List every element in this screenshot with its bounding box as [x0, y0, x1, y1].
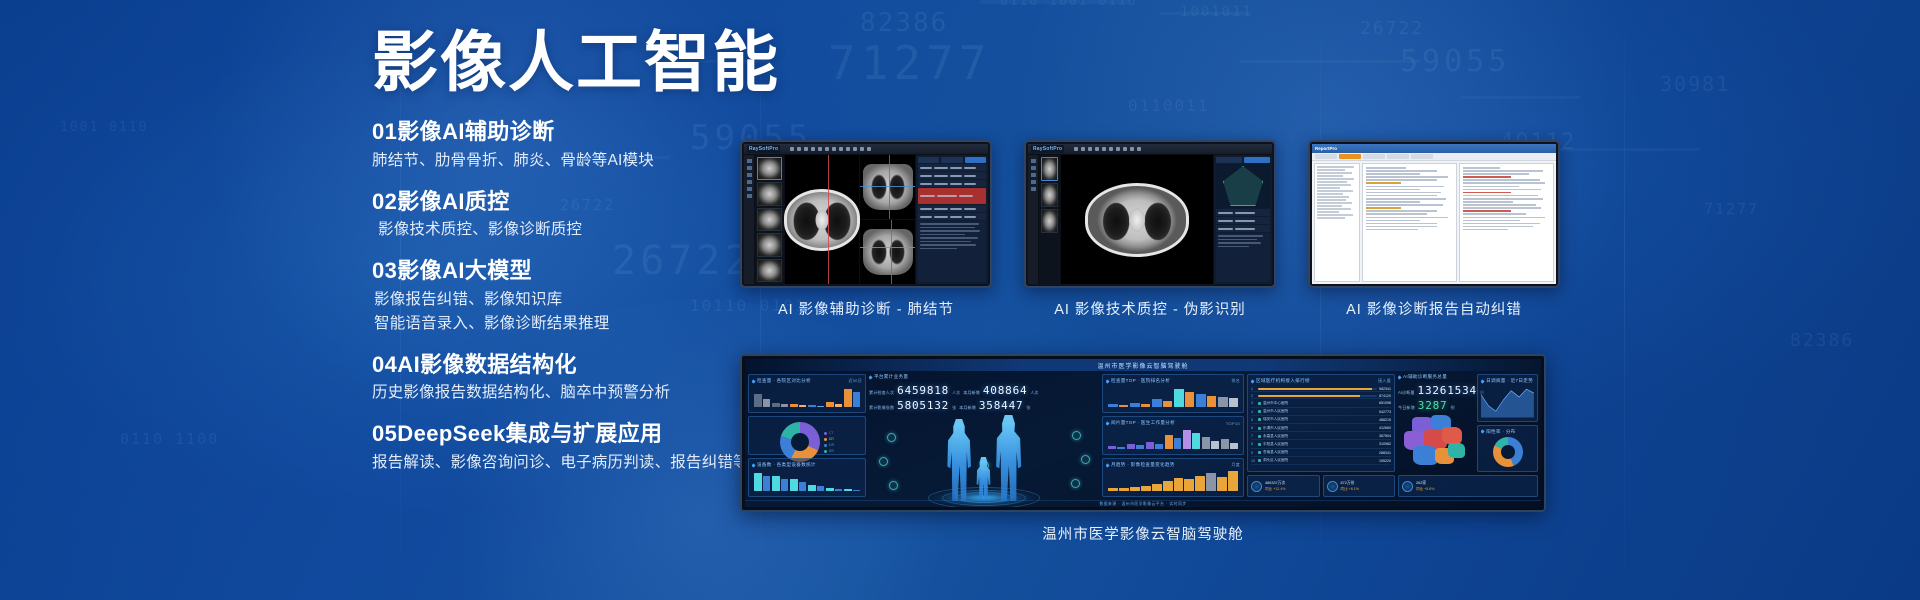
bar-group [1202, 428, 1219, 449]
card-title-text: 月趋势 · 影像检查量变化趋势 [1111, 462, 1175, 468]
ai-title-text: AI辅助诊断服务总量 [1403, 374, 1447, 380]
kpi-label-2: 本月新增 [959, 405, 976, 411]
rank-index: 7 [1251, 434, 1256, 438]
rank-index: 1 [1251, 387, 1256, 391]
card-bar-top-left[interactable]: 检查量 · 各院区对比分析 近30日 [748, 374, 866, 413]
bar-group [826, 470, 842, 491]
dashboard-column-2: 平台累计业务量 累计检查人次 6459818 人次 本月新增 408864 [869, 374, 1099, 497]
dashboard-caption: 温州市医学影像云智脑驾驶舱 [740, 523, 1546, 544]
series-thumbnail[interactable] [1041, 183, 1058, 207]
bar-group [1165, 428, 1182, 449]
panel-button-prev[interactable] [918, 157, 939, 163]
kpi-rows: 累计检查人次 6459818 人次 本月新增 408864 人次 累计影像张数 [869, 384, 1099, 412]
card-legend: 近30日 [848, 378, 862, 384]
pacs-viewer-lung-nodule: RaySoftPro [744, 144, 988, 284]
finding-row-highlighted[interactable] [918, 188, 986, 204]
tile-value: 262家 [1416, 481, 1434, 486]
report-correction-app: ReportPro [1312, 144, 1556, 284]
invert-icon[interactable] [1130, 147, 1134, 151]
tab-item[interactable] [1315, 154, 1337, 159]
kpi-label: 累计检查人次 [869, 390, 894, 396]
card-title-text: 区域医疗机构接入排行榜 [1256, 378, 1310, 384]
kpi-title-text: 平台累计业务量 [874, 374, 908, 380]
bar-chart-1 [752, 386, 862, 409]
kpi-row: 今日新增 3287 例 [1398, 399, 1474, 412]
card-title-text: 阳性率 · 分布 [1486, 429, 1515, 435]
rank-index: 3 [1251, 401, 1256, 405]
rank-index: 4 [1251, 410, 1256, 414]
kpi-label-2: 本月新增 [963, 390, 980, 396]
rail-tool-icon[interactable] [747, 173, 752, 177]
pacs-viewport-grid-1 [785, 155, 988, 284]
thumbnail-card-3[interactable]: ReportPro [1308, 140, 1560, 319]
card-line-right[interactable]: 日调阅量 · 近7日走势 [1477, 374, 1538, 422]
dashboard-header-title: 温州市医学影像云智脑驾驶舱 [745, 359, 1541, 371]
bar-group [1108, 470, 1118, 491]
rank-index: 8 [1251, 442, 1256, 446]
bar-group [790, 386, 806, 407]
thumbnail-caption-2: AI 影像技术质控 - 伪影识别 [1054, 298, 1246, 319]
pacs-toolbar-2: RaySoftPro [1028, 144, 1272, 155]
kpi-row: 累计影像张数 5805132 张 本月新增 358447 张 [869, 399, 1099, 412]
kpi-value: 6459818 [897, 384, 949, 397]
list-item[interactable]: 5瑞安市人民医院488215 [1251, 417, 1391, 424]
rank-value: 982341 [1379, 387, 1391, 391]
bar-group [1206, 470, 1216, 491]
bar-group [1174, 470, 1184, 491]
rank-name: 乐清市人民医院 [1263, 426, 1377, 431]
rank-bar [1258, 395, 1377, 397]
tile-icon [1402, 481, 1413, 492]
status-dot [1258, 435, 1261, 438]
card-title-text: 阅片量TOP · 医生工作量分析 [1111, 420, 1175, 426]
dashboard-column-1: 检查量 · 各院区对比分析 近30日 [748, 374, 866, 497]
ai-title: AI辅助诊断服务总量 [1398, 374, 1474, 380]
status-dot [1258, 459, 1261, 462]
pan-icon[interactable] [1088, 147, 1092, 151]
kpi-value: 13261534 [1418, 384, 1477, 397]
line-chart-svg [1481, 386, 1534, 418]
thumbnail-row: RaySoftPro [740, 140, 1560, 319]
finding-row[interactable] [918, 180, 986, 187]
series-thumbnail[interactable] [757, 208, 782, 231]
bar-group [1195, 470, 1205, 491]
report-worklist[interactable] [1314, 163, 1360, 282]
pacs-viewport-grid-2 [1061, 155, 1272, 284]
app-logo-2: RaySoftPro [1031, 145, 1064, 153]
tile-value: 872万份 [1341, 481, 1359, 486]
window-level-icon[interactable] [811, 147, 815, 151]
rail-tool-icon[interactable] [1031, 180, 1036, 184]
series-thumbnail[interactable] [757, 233, 782, 256]
bar-group [1183, 428, 1200, 449]
rank-name: 永嘉县人民医院 [1263, 434, 1377, 439]
crosshair-horizontal [860, 247, 915, 248]
thumbnail-frame-3: ReportPro [1308, 140, 1560, 288]
card-donut-right[interactable]: 阳性率 · 分布 [1477, 425, 1538, 473]
tile-text: 486337万次 同比 +12.4% [1265, 481, 1285, 492]
holo-orb-icon [889, 481, 898, 490]
dashboard-section: 温州市医学影像云智脑驾驶舱 检查量 · 各院区对比分析 近30日 [740, 354, 1546, 544]
panel-button-prev[interactable] [1216, 157, 1242, 163]
map-region [1442, 427, 1462, 444]
thumbnail-caption-1: AI 影像辅助诊断 - 肺结节 [778, 298, 954, 319]
card-title: 设备数 · 各类型设备数统计 [752, 462, 862, 468]
bar-chart-4 [1106, 428, 1240, 451]
bar-group [790, 470, 806, 491]
tile-sub: 同比 +5.6% [1416, 487, 1434, 492]
status-dot [1258, 427, 1261, 430]
ct-secondary-column [860, 155, 916, 284]
rank-name: 苍南县人民医院 [1263, 450, 1377, 455]
series-thumbnail[interactable] [1041, 157, 1058, 181]
list-item[interactable]: 6乐清市人民医院412660 [1251, 425, 1391, 432]
bar-chart-2 [752, 470, 862, 493]
bar-group [1221, 428, 1238, 449]
right-charts-block: 日调阅量 · 近7日走势 [1477, 374, 1538, 472]
dashboard-screen: 温州市医学影像云智脑驾驶舱 检查量 · 各院区对比分析 近30日 [745, 359, 1541, 507]
ct-coronal-image [863, 229, 913, 275]
hologram-visualization [869, 415, 1099, 507]
bar-group [1184, 470, 1194, 491]
series-thumbnail[interactable] [1041, 209, 1058, 233]
crosshair-horizontal [860, 186, 915, 187]
rail-tool-icon[interactable] [747, 159, 752, 163]
rank-index: 6 [1251, 426, 1256, 430]
kpi-label: AI诊断量 [1398, 390, 1415, 396]
tile-value: 486337万次 [1265, 481, 1285, 486]
dashboard-column-4: 区域医疗机构接入排行榜 接入量 1982341 2874120 3温州市中心医院… [1247, 374, 1395, 497]
bar-group [754, 386, 770, 407]
card-title-text: 检查量 · 各院区对比分析 [757, 378, 811, 384]
ai-kpi-rows: AI诊断量 13261534 例 今日新增 3287 例 [1398, 384, 1474, 412]
holo-orb-icon [887, 433, 896, 442]
rank-index: 10 [1251, 459, 1256, 463]
card-title: 日调阅量 · 近7日走势 [1481, 378, 1534, 384]
bar-group [844, 386, 860, 407]
bar-group [754, 470, 770, 491]
panel-button-row [918, 157, 986, 163]
series-thumbnail-list-2[interactable] [1039, 155, 1061, 284]
measure-icon[interactable] [818, 147, 822, 151]
stat-tile[interactable]: 872万份 同比 +8.1% [1323, 475, 1396, 497]
tile-text: 262家 同比 +5.6% [1416, 481, 1434, 492]
pacs-body-2 [1028, 155, 1272, 284]
crosshair-vertical [891, 220, 892, 284]
ct-coronal-viewport[interactable] [860, 220, 915, 284]
dashboard-column-5-upper: AI辅助诊断服务总量 AI诊断量 13261534 例 [1398, 374, 1538, 472]
status-dot [1258, 443, 1261, 446]
status-dot [1258, 451, 1261, 454]
thumbnail-card-2[interactable]: RaySoftPro [1024, 140, 1276, 319]
rank-name: 瑞安市人民医院 [1263, 417, 1377, 422]
rail-tool-icon[interactable] [747, 180, 752, 184]
banner-root: 82386 0110 1001 0110 1001011 71277 26722… [0, 0, 1920, 600]
series-thumbnail[interactable] [757, 182, 782, 205]
rail-tool-icon[interactable] [747, 166, 752, 170]
ranking-list[interactable]: 1982341 2874120 3温州市中心医院651098 4温州市人民医院5… [1251, 386, 1391, 468]
thumbnail-card-1[interactable]: RaySoftPro [740, 140, 992, 319]
qc-metric-row[interactable] [1216, 217, 1270, 224]
layout-icon[interactable] [1116, 147, 1120, 151]
panel-button-next[interactable] [941, 157, 962, 163]
ct-sagittal-image [863, 164, 913, 210]
rank-value: 874120 [1379, 394, 1391, 398]
kpi-row: 累计检查人次 6459818 人次 本月新增 408864 人次 [869, 384, 1099, 397]
holo-family-figures [946, 415, 1022, 507]
list-item[interactable]: 10洞头区人民医院195220 [1251, 458, 1391, 465]
finding-row[interactable] [918, 213, 986, 220]
tile-sub: 同比 +12.4% [1265, 487, 1285, 492]
bar-group [1152, 470, 1162, 491]
bar-group [1152, 386, 1172, 407]
rank-value: 651098 [1379, 401, 1391, 405]
rank-name: 温州市中心医院 [1263, 401, 1377, 406]
line-chart-1 [1481, 386, 1534, 418]
thumbnail-caption-3: AI 影像诊断报告自动纠错 [1346, 298, 1522, 319]
qc-metric-row[interactable] [1216, 209, 1270, 216]
rail-tool-icon[interactable] [1031, 187, 1036, 191]
finding-row[interactable] [918, 172, 986, 179]
rotate-icon[interactable] [1123, 147, 1127, 151]
stat-tile[interactable]: 486337万次 同比 +12.4% [1247, 475, 1320, 497]
ai-and-map-block: AI辅助诊断服务总量 AI诊断量 13261534 例 [1398, 374, 1474, 472]
feature-number-04: 04 [372, 352, 397, 377]
bar-group [1130, 386, 1150, 407]
rail-tool-icon[interactable] [1031, 159, 1036, 163]
rail-tool-icon[interactable] [747, 187, 752, 191]
export-icon[interactable] [867, 147, 871, 151]
bar-group [772, 386, 788, 407]
pacs-tool-rail-2 [1028, 155, 1039, 284]
card-title-text: 设备数 · 各类型设备数统计 [757, 462, 816, 468]
list-item[interactable]: 2874120 [1251, 393, 1391, 399]
rank-value: 195220 [1379, 459, 1391, 463]
tab-item-active[interactable] [1339, 154, 1361, 159]
kpi-label: 今日新增 [1398, 405, 1415, 411]
report-corrected-text[interactable] [1459, 163, 1554, 282]
ct-axial-viewport[interactable] [785, 155, 860, 284]
kpi-value: 3287 [1418, 399, 1448, 412]
bar-group [1163, 470, 1173, 491]
tile-icon [1327, 481, 1338, 492]
list-item[interactable]: 7永嘉县人民医院367504 [1251, 433, 1391, 440]
donut-legend: CT DR MR US [824, 431, 835, 453]
donut-chart-1: CT DR MR US [752, 422, 862, 462]
card-title-text: 日调阅量 · 近7日走势 [1486, 378, 1533, 384]
rank-value: 288341 [1379, 451, 1391, 455]
pacs-tool-rail-1 [744, 155, 755, 284]
panel-button-row [1216, 157, 1270, 163]
tab-item[interactable] [1363, 154, 1385, 159]
bar-group [1127, 428, 1144, 449]
bar-group [1146, 428, 1163, 449]
rail-tool-icon[interactable] [1031, 173, 1036, 177]
ct-sagittal-viewport[interactable] [860, 155, 915, 220]
bar-chart-3 [1106, 386, 1240, 409]
feature-label-05: DeepSeek集成与扩展应用 [397, 421, 662, 446]
series-thumbnail[interactable] [757, 259, 782, 282]
kpi-unit-2: 张 [1026, 405, 1030, 411]
feature-label-01: 影像AI辅助诊断 [397, 119, 554, 144]
status-dot [1258, 418, 1261, 421]
donut-graphic [1493, 437, 1523, 467]
pan-icon[interactable] [804, 147, 808, 151]
dashboard-column-3: 检查量TOP · 医院排名分析 排名 [1102, 374, 1244, 497]
rotate-icon[interactable] [839, 147, 843, 151]
list-item[interactable]: 4温州市人民医院542773 [1251, 409, 1391, 416]
kpi-row: AI诊断量 13261534 例 [1398, 384, 1474, 397]
card-legend: 排名 [1231, 378, 1240, 384]
rank-bar [1258, 388, 1377, 390]
kpi-title: 平台累计业务量 [869, 374, 1099, 380]
annotate-icon[interactable] [825, 147, 829, 151]
dashboard-body: 检查量 · 各院区对比分析 近30日 [745, 371, 1541, 500]
card-legend: TOP10 [1226, 421, 1240, 426]
kpi-label: 累计影像张数 [869, 405, 894, 411]
bar-group [826, 386, 842, 407]
holo-orb-icon [1071, 479, 1080, 488]
bar-group [844, 470, 860, 491]
window-level-icon[interactable] [1095, 147, 1099, 151]
series-thumbnail[interactable] [757, 157, 782, 180]
rank-name: 洞头区人民医院 [1263, 458, 1377, 463]
toolbar-icons-2 [1074, 147, 1141, 151]
bar-chart-5 [1106, 470, 1240, 493]
cursor-icon[interactable] [790, 147, 794, 151]
ct-axial-viewport-qc[interactable] [1061, 155, 1214, 284]
list-item[interactable]: 8平阳县人民医院310982 [1251, 441, 1391, 448]
status-dot [1258, 402, 1261, 405]
qc-summary-text [1216, 233, 1270, 282]
bar-group [1108, 386, 1128, 407]
kpi-value-2: 408864 [983, 384, 1028, 397]
card-title: 月趋势 · 影像检查量变化趋势 月度 [1106, 462, 1240, 468]
bar-group [1108, 428, 1125, 449]
rank-name: 平阳县人民医院 [1263, 442, 1377, 447]
bar-group [1119, 470, 1129, 491]
holo-figure-adult-right [995, 415, 1022, 501]
kpi-unit: 人次 [952, 390, 960, 396]
tab-item[interactable] [1411, 154, 1433, 159]
card-title: 区域医疗机构接入排行榜 接入量 [1251, 378, 1391, 384]
rank-index: 2 [1251, 394, 1256, 398]
feature-label-02: 影像AI质控 [397, 189, 509, 214]
panel-button-qc[interactable] [1244, 157, 1270, 163]
rank-value: 488215 [1379, 418, 1391, 422]
stat-tile[interactable]: 262家 同比 +5.6% [1398, 475, 1538, 497]
kpi-unit: 例 [1450, 405, 1454, 411]
report-original-text[interactable] [1362, 163, 1457, 282]
feature-label-03: 影像AI大模型 [397, 258, 532, 283]
card-bar-mid-center[interactable]: 阅片量TOP · 医生工作量分析 TOP10 [1102, 416, 1244, 455]
list-item[interactable]: 3温州市中心医院651098 [1251, 400, 1391, 407]
feature-number-03: 03 [372, 258, 397, 283]
thumbnail-frame-1: RaySoftPro [740, 140, 992, 288]
invert-icon[interactable] [846, 147, 850, 151]
rank-value: 412660 [1379, 426, 1391, 430]
bar-group [1217, 470, 1227, 491]
card-donut-left[interactable]: 影像占比 · 各检查类别分布分析 CT DR MR US [748, 416, 866, 455]
list-item[interactable]: 9苍南县人民医院288341 [1251, 450, 1391, 457]
finding-row[interactable] [918, 164, 986, 171]
dashboard-column-5: AI辅助诊断服务总量 AI诊断量 13261534 例 [1398, 374, 1538, 497]
report-body [1312, 161, 1556, 284]
card-bar-mid-bottom[interactable]: 月趋势 · 影像检查量变化趋势 月度 [1102, 458, 1244, 497]
bar-group [1196, 386, 1216, 407]
card-title: 阅片量TOP · 医生工作量分析 TOP10 [1106, 420, 1240, 426]
pacs-body-1 [744, 155, 988, 284]
thumbnail-frame-2: RaySoftPro [1024, 140, 1276, 288]
measure-icon[interactable] [1102, 147, 1106, 151]
rail-tool-icon[interactable] [747, 194, 752, 198]
kpi-value: 5805132 [897, 399, 949, 412]
tab-item[interactable] [1387, 154, 1409, 159]
status-dot [1258, 410, 1261, 413]
tile-sub: 同比 +8.1% [1341, 487, 1359, 492]
bar-group [772, 470, 788, 491]
list-item[interactable]: 1982341 [1251, 386, 1391, 392]
stat-tile-row-right: 262家 同比 +5.6% [1398, 475, 1538, 497]
kpi-unit-2: 人次 [1030, 390, 1038, 396]
report-titlebar: ReportPro [1312, 144, 1556, 153]
layout-icon[interactable] [832, 147, 836, 151]
card-ranking[interactable]: 区域医疗机构接入排行榜 接入量 1982341 2874120 3温州市中心医院… [1247, 374, 1395, 472]
rank-index: 9 [1251, 451, 1256, 455]
bar-group [1218, 386, 1238, 407]
rank-name: 温州市人民医院 [1263, 409, 1377, 414]
holo-orb-icon [879, 457, 888, 466]
app-logo-3: ReportPro [1315, 146, 1337, 151]
cursor-icon[interactable] [1074, 147, 1078, 151]
kpi-unit: 张 [952, 405, 956, 411]
feature-number-05: 05 [372, 421, 397, 446]
rank-value: 542773 [1379, 410, 1391, 414]
ct-mediastinum [1129, 208, 1145, 232]
tile-icon [1251, 481, 1262, 492]
reset-icon[interactable] [853, 147, 857, 151]
zoom-icon[interactable] [1081, 147, 1085, 151]
map-region [1448, 443, 1465, 458]
region-map[interactable] [1398, 414, 1474, 472]
print-icon[interactable] [860, 147, 864, 151]
series-thumbnail-list-1[interactable] [755, 155, 785, 284]
ai-findings-panel-1 [916, 155, 988, 284]
zoom-icon[interactable] [797, 147, 801, 151]
qc-result-panel [1214, 155, 1272, 284]
panel-button-ai-report[interactable] [965, 157, 986, 163]
qc-metric-row[interactable] [1216, 225, 1270, 232]
annotate-icon[interactable] [1109, 147, 1113, 151]
kpi-value-2: 358447 [979, 399, 1024, 412]
card-bar-bottom-left[interactable]: 设备数 · 各类型设备数统计 [748, 458, 866, 497]
pacs-toolbar-1: RaySoftPro [744, 144, 988, 155]
rank-index: 5 [1251, 418, 1256, 422]
dashboard-footer: 数据来源 · 温州市医学影像云平台 · 实时同步 [745, 500, 1541, 507]
rail-tool-icon[interactable] [1031, 166, 1036, 170]
card-bar-mid-top[interactable]: 检查量TOP · 医院排名分析 排名 [1102, 374, 1244, 413]
finding-row[interactable] [918, 205, 986, 212]
reset-icon[interactable] [1137, 147, 1141, 151]
pacs-viewer-artifact-qc: RaySoftPro [1028, 144, 1272, 284]
page-title: 影像人工智能 [372, 28, 852, 97]
dashboard-frame: 温州市医学影像云智脑驾驶舱 检查量 · 各院区对比分析 近30日 [740, 354, 1546, 512]
report-tab-bar[interactable] [1312, 153, 1556, 161]
bar-group [808, 470, 824, 491]
feature-number-02: 02 [372, 189, 397, 214]
card-title: 检查量TOP · 医院排名分析 排名 [1106, 378, 1240, 384]
donut-chart-2 [1481, 437, 1534, 469]
